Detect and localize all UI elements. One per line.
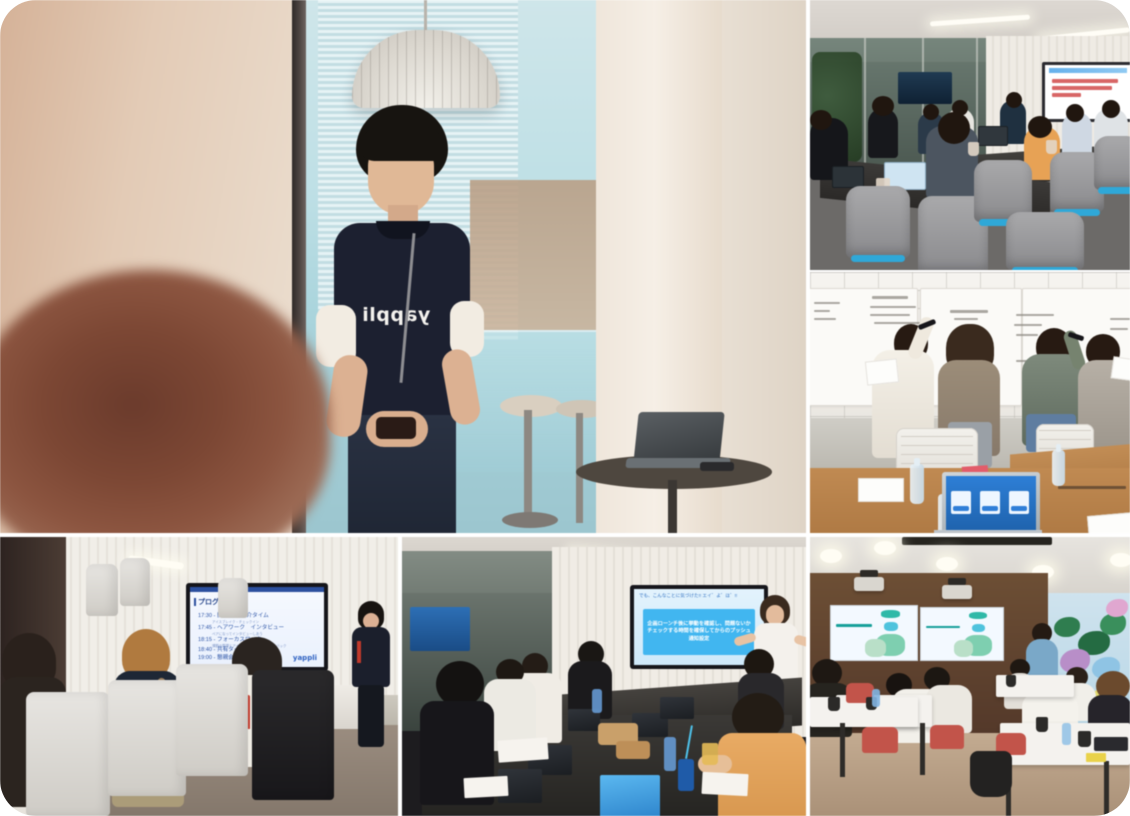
water-bottle (1062, 723, 1071, 745)
bar-stool-stem (524, 410, 532, 520)
marker-writing (950, 310, 988, 313)
slide-graphic (954, 640, 974, 657)
slide-header: でも、こんなことに気づけた!! エイ゛よ゛ほ゛!! (639, 593, 737, 599)
downlight (1110, 553, 1130, 567)
keynote-speaker-photo: yappli (0, 0, 806, 533)
paper-on-table (701, 772, 748, 796)
marker-writing (1110, 318, 1130, 320)
presenter-fringe (360, 127, 444, 161)
ceiling-projector-1 (854, 577, 884, 591)
slide-heading-bar (926, 626, 960, 628)
marker-writing (870, 314, 910, 316)
marker-writing (1110, 328, 1128, 330)
projection-screen-left (830, 605, 918, 661)
drink-cup (1046, 140, 1057, 154)
slide-text-line (1052, 79, 1118, 83)
slide-top-bar (190, 587, 324, 592)
lounge-wall-right (722, 0, 806, 533)
downlight (936, 557, 958, 571)
ui-card (951, 491, 971, 514)
laptop-screen (633, 412, 724, 464)
paper-on-table (1087, 512, 1130, 533)
laptop (660, 697, 694, 719)
ceiling-rail (902, 537, 1052, 545)
attendee-head (810, 110, 832, 130)
drink-cup (1006, 675, 1016, 687)
attendee-head (872, 96, 894, 116)
background-monitor (410, 607, 470, 651)
table-seam (1058, 486, 1126, 489)
water-bottle (592, 689, 602, 713)
handheld-device (376, 417, 416, 439)
marker-writing (954, 318, 978, 320)
marker-writing (1014, 324, 1042, 326)
attendee-head (1066, 104, 1084, 122)
marker-writing (872, 296, 908, 299)
ui-card (1009, 491, 1029, 514)
drink-can (678, 759, 694, 791)
side-table-leg (668, 480, 677, 533)
laptop (978, 126, 1008, 146)
slide-graphic (972, 624, 985, 632)
ceiling-projector-2 (942, 585, 972, 599)
water-bottle (910, 464, 924, 504)
slide-heading-bar (836, 624, 872, 626)
slide-header-bar (1049, 68, 1127, 73)
seminar-program-photo: プログラム 17:30 - 開始/自己紹介タイム アイスブレイク・チェックイン … (0, 537, 398, 816)
drink-cup (1078, 731, 1091, 747)
whiteboard-workshop-photo (810, 272, 1130, 533)
screen-surface: でも、こんなことに気づけた!! エイ゛よ゛ほ゛!! 企画ローンチ後に挙動を確認し… (634, 589, 764, 665)
marker-writing (1016, 334, 1038, 336)
workshop-classroom-photo (810, 537, 1130, 816)
glass-mullion-1 (864, 38, 866, 168)
water-bottle (1052, 450, 1065, 486)
drink-glass (702, 743, 718, 765)
backpack-on-floor (970, 751, 1012, 797)
marker-writing (870, 306, 916, 308)
drink-cup (1036, 717, 1048, 732)
handout-sheet (865, 358, 899, 385)
marker-writing (814, 302, 840, 304)
audience-chair (120, 558, 150, 606)
laptop-open (600, 775, 660, 816)
audience-chair (176, 664, 248, 776)
office-chair (846, 186, 910, 258)
marker-writing (814, 318, 836, 320)
table-leg (840, 723, 845, 777)
ui-card (980, 491, 1000, 514)
pendant-cord (424, 0, 427, 32)
attendee-head (938, 112, 970, 144)
paper-on-table (464, 776, 509, 798)
presenter-face (766, 605, 784, 625)
presenter-figure: yappli (310, 105, 490, 533)
red-chair (930, 725, 964, 749)
slide-text-line (1052, 86, 1112, 90)
photo-collage: yappli (0, 0, 1130, 816)
drink-cup (968, 142, 979, 156)
paper-on-table (858, 478, 904, 502)
audience-chair (86, 564, 118, 616)
mural-leaf (1054, 617, 1080, 637)
slide-graphic (865, 639, 886, 656)
presenter-remote (700, 462, 734, 471)
classroom-session-photo (810, 0, 1130, 270)
attendee-head (923, 104, 939, 120)
smartphone (1094, 737, 1128, 751)
water-bottle (872, 689, 880, 707)
attendee-head (1028, 116, 1052, 138)
slide-callout: 企画ローンチ後に挙動を確認し、問題ないかチェックする時間を確保してからのプッシュ… (643, 609, 755, 655)
tshirt-logo: yappli (354, 303, 438, 327)
open-laptop (942, 472, 1040, 533)
marker-writing (814, 310, 830, 312)
slide-graphic (969, 612, 987, 619)
slide-graphic (884, 622, 898, 631)
chair-row (0, 626, 398, 816)
marker-writing (1016, 314, 1054, 316)
red-chair (862, 727, 898, 753)
slide-body (1052, 79, 1124, 100)
water-bottle (664, 737, 676, 771)
office-chair (1006, 212, 1084, 270)
attendee-head (1006, 92, 1022, 108)
audience-chair-jacket (252, 670, 334, 800)
audience-chair (108, 680, 186, 796)
slide-text-line (1052, 93, 1081, 97)
office-chair (1094, 136, 1130, 190)
downlight (820, 549, 842, 563)
drink-cup (828, 697, 840, 711)
laptop-keyboard (934, 530, 1042, 533)
laptop (832, 166, 864, 188)
slide-graphic (881, 610, 900, 618)
audience-chair (26, 692, 110, 816)
laptop-screen (946, 476, 1036, 530)
table-leg (920, 723, 925, 775)
mural-flower (1106, 599, 1128, 617)
paper-on-table (497, 737, 548, 762)
table-leg (1104, 761, 1109, 815)
background-monitor (898, 72, 952, 104)
handout-sheet (1111, 356, 1130, 381)
attendee-head (1102, 100, 1120, 118)
food-basket (616, 741, 650, 759)
boardroom-session-photo: でも、こんなことに気づけた!! エイ゛よ゛ほ゛!! 企画ローンチ後に挙動を確認し… (402, 537, 806, 816)
downlight (874, 541, 896, 555)
projection-screen-right (920, 607, 1004, 661)
bar-stool-base (502, 512, 558, 528)
audience-chair (218, 578, 248, 618)
sticky-note (1086, 753, 1106, 762)
